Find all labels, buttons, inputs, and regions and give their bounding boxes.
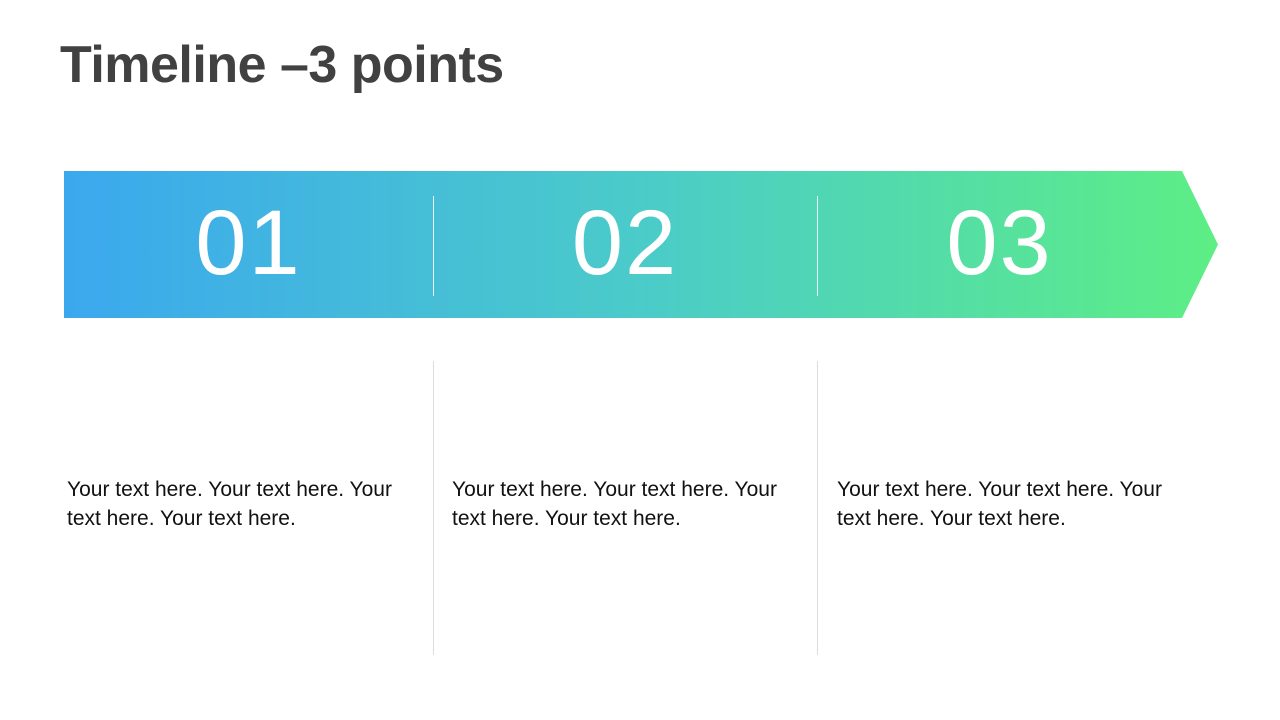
step-number-02: 02 (572, 197, 678, 289)
step-number-01: 01 (195, 197, 301, 289)
step-description-3: Your text here. Your text here. Your tex… (837, 475, 1189, 533)
page-title: Timeline –3 points (60, 36, 504, 96)
banner-divider-2 (817, 196, 818, 296)
timeline-step-3[interactable]: 03 (817, 171, 1182, 318)
step-description-2: Your text here. Your text here. Your tex… (452, 475, 804, 533)
timeline-segments: 01 02 03 (64, 171, 1218, 318)
banner-divider-1 (433, 196, 434, 296)
timeline-step-2[interactable]: 02 (433, 171, 817, 318)
description-columns: Your text here. Your text here. Your tex… (0, 475, 1280, 555)
step-number-03: 03 (946, 197, 1052, 289)
timeline-step-1[interactable]: 01 (64, 171, 433, 318)
timeline-slide: Timeline –3 points 01 02 03 Your text he… (0, 0, 1280, 720)
step-description-1: Your text here. Your text here. Your tex… (67, 475, 419, 533)
timeline-arrow-banner: 01 02 03 (64, 171, 1218, 318)
